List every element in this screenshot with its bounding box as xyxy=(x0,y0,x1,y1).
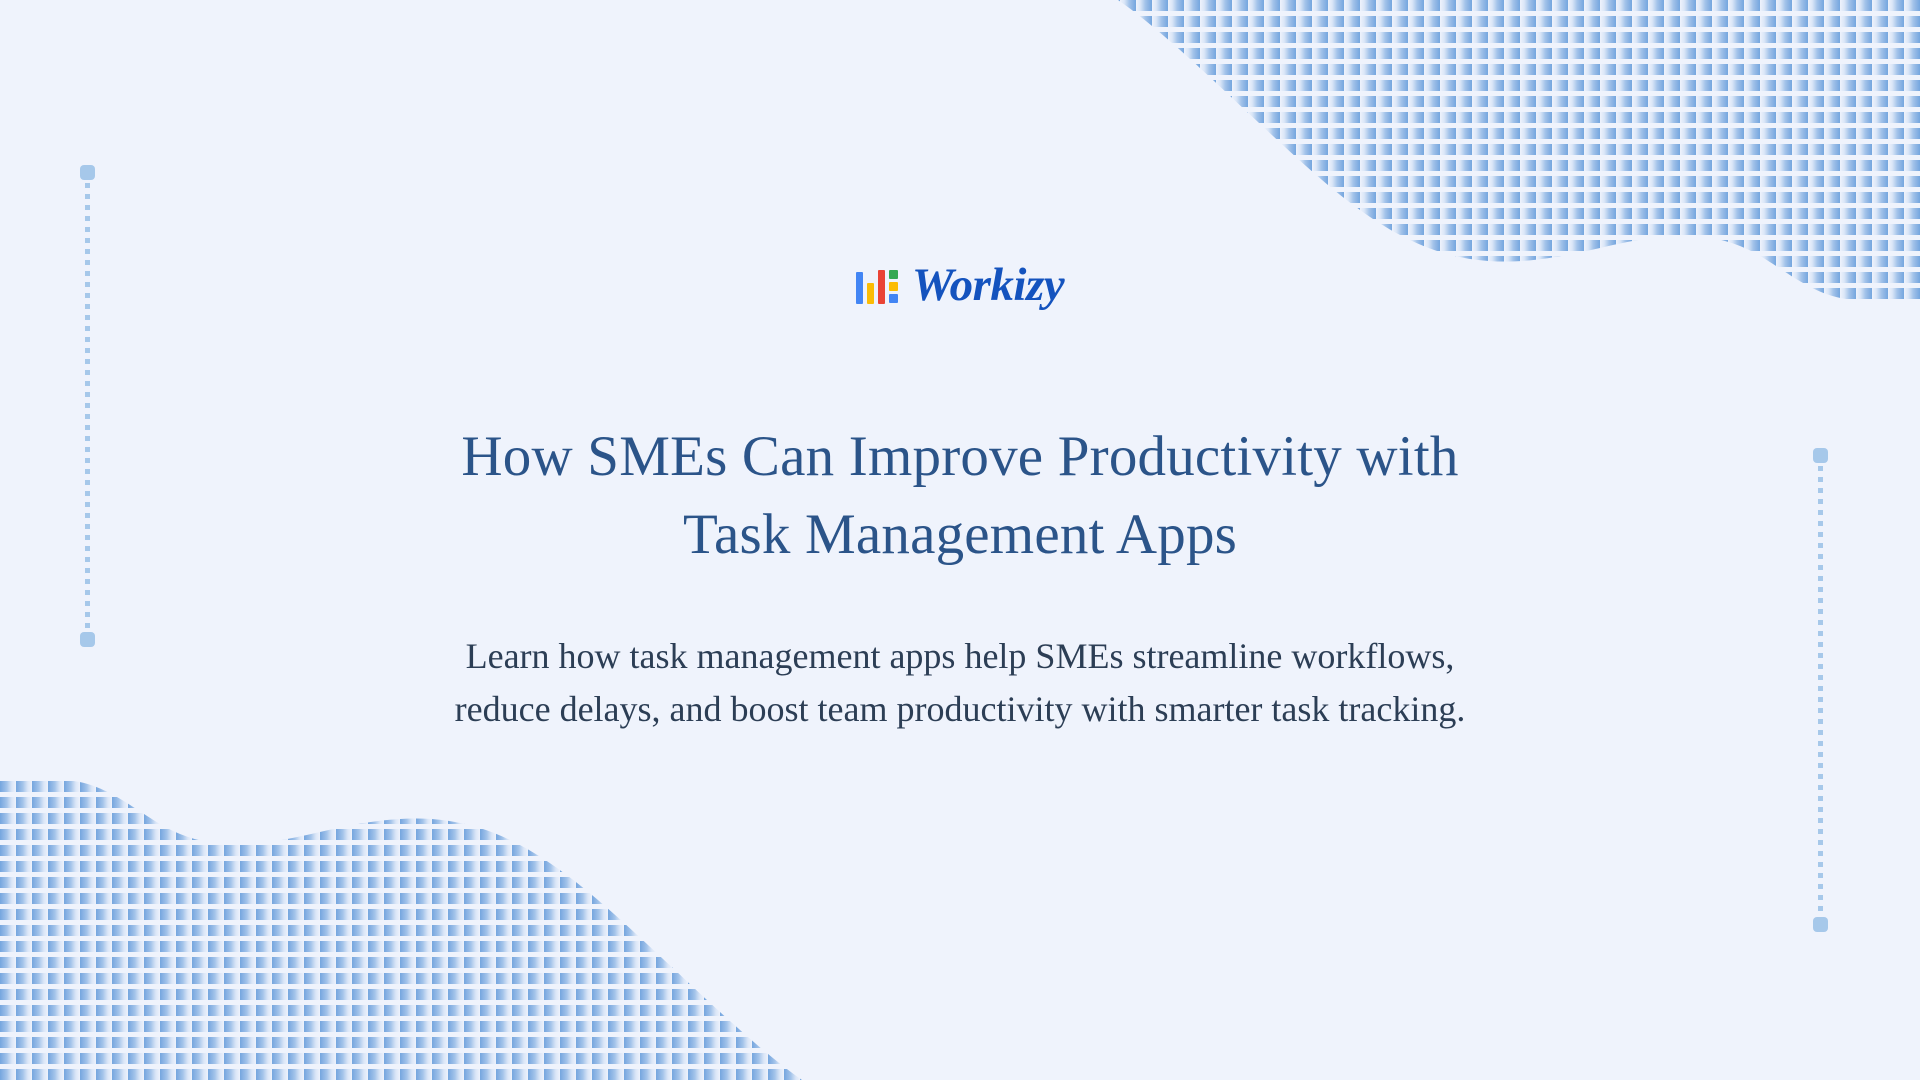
bar-chart-logo-icon xyxy=(856,266,898,304)
logo-bar-blue-tall xyxy=(856,272,863,304)
logo-square-yellow xyxy=(889,282,898,291)
logo-square-green xyxy=(889,270,898,279)
logo-bar-yellow-short xyxy=(867,283,874,304)
cover-content: Workizy How SMEs Can Improve Productivit… xyxy=(0,0,1920,1080)
logo-square-blue xyxy=(889,294,898,303)
brand-lockup: Workizy xyxy=(856,262,1064,308)
page-subtitle: Learn how task management apps help SMEs… xyxy=(430,630,1490,736)
brand-name: Workizy xyxy=(912,262,1064,309)
cover-canvas: Workizy How SMEs Can Improve Productivit… xyxy=(0,0,1920,1080)
logo-bar-red-tall xyxy=(878,270,885,304)
page-title: How SMEs Can Improve Productivity with T… xyxy=(420,418,1500,574)
